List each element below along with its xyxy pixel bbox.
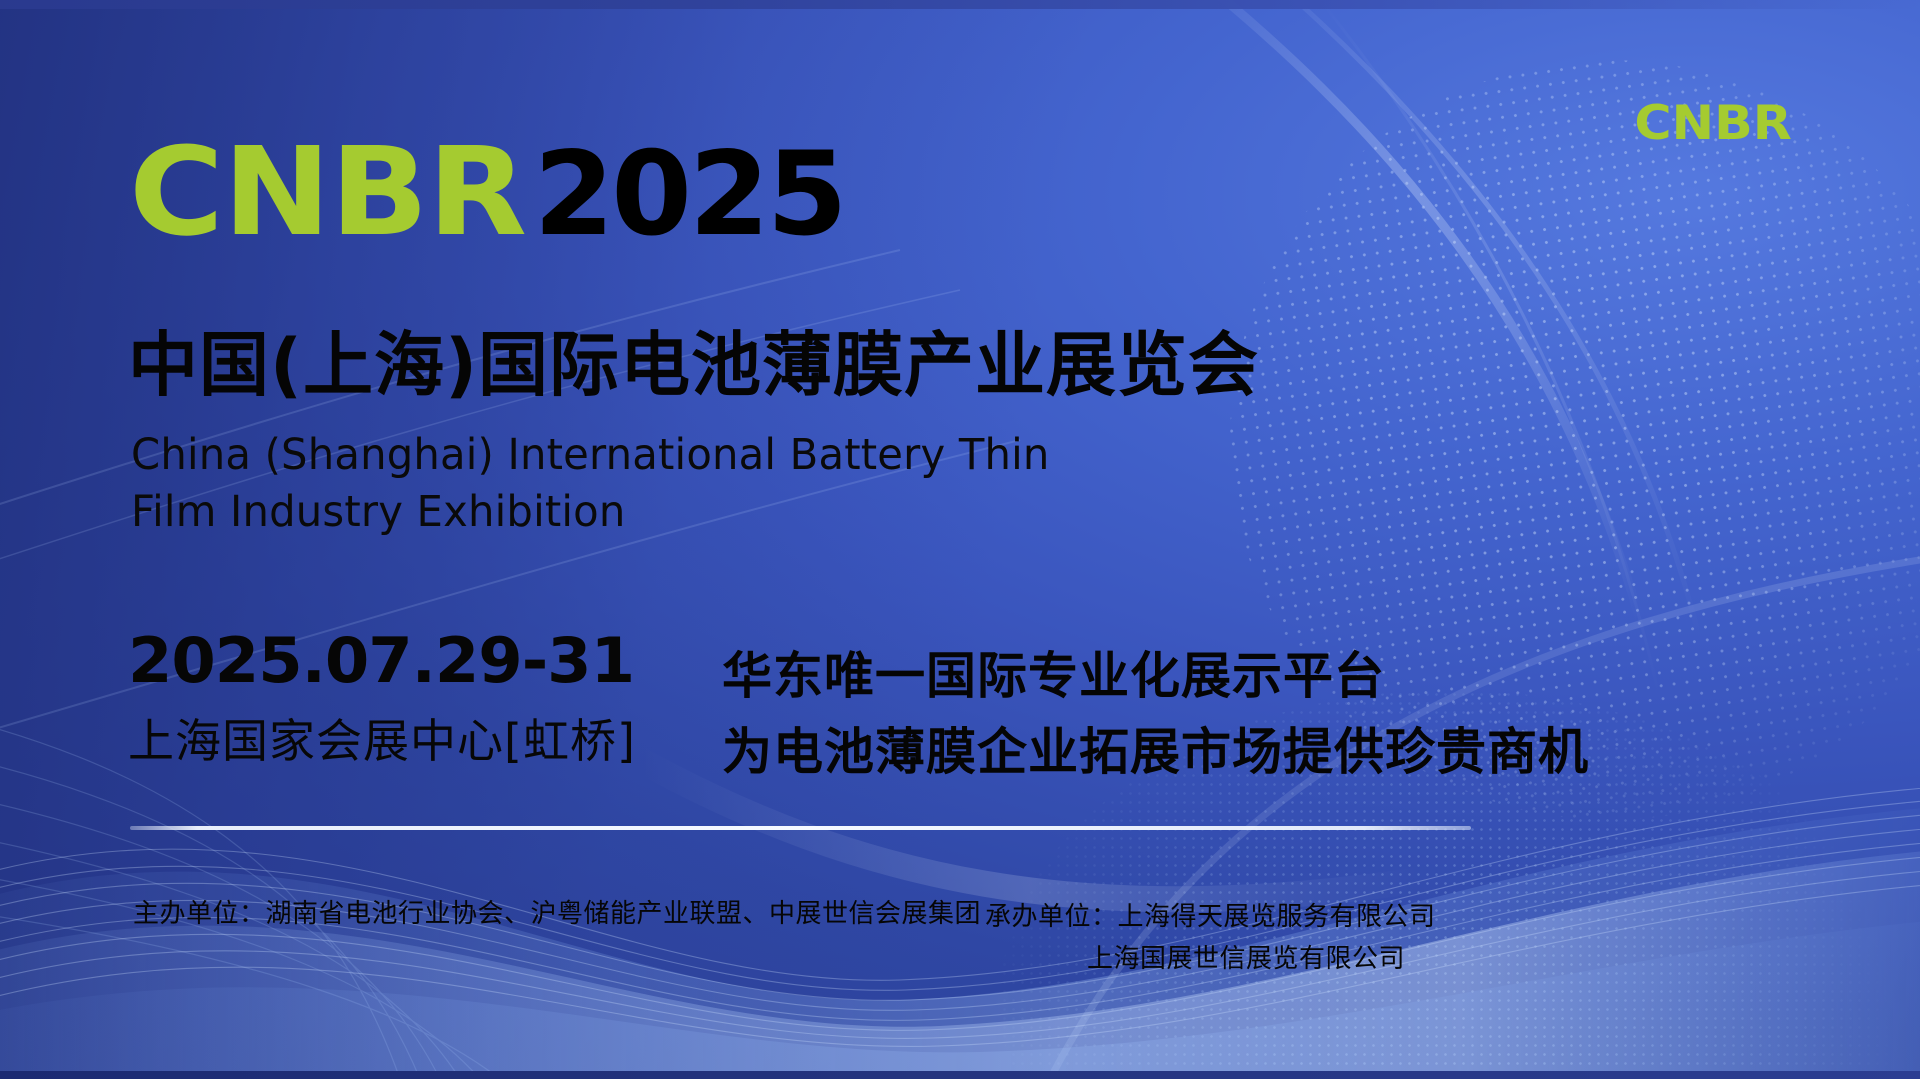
- tagline-line1: 华东唯一国际专业化展示平台: [722, 638, 1589, 714]
- coorganizer-line1: 承办单位：上海得天展览服务有限公司: [985, 896, 1405, 938]
- title-english: China (Shanghai) International Battery T…: [131, 427, 1231, 541]
- event-date-venue: 2025.07.29-31 上海国家会展中心[虹桥]: [128, 630, 636, 764]
- title-chinese: 中国(上海)国际电池薄膜产业展览会: [128, 330, 1259, 400]
- brand-lockup: CNBR 2025: [129, 131, 844, 253]
- organizer-text: 主办单位：湖南省电池行业协会、沪粤储能产业联盟、中展世信会展集团: [133, 896, 981, 934]
- footer-divider: [130, 826, 1471, 830]
- event-tagline: 华东唯一国际专业化展示平台 为电池薄膜企业拓展市场提供珍贵商机: [722, 638, 1589, 790]
- title-english-line1: China (Shanghai) International Battery T…: [131, 427, 1198, 484]
- event-venue: 上海国家会展中心[虹桥]: [128, 718, 636, 764]
- bottom-edge-band: [0, 1071, 1920, 1079]
- top-edge-band: [0, 0, 1920, 9]
- tagline-line2: 为电池薄膜企业拓展市场提供珍贵商机: [722, 714, 1589, 790]
- coorganizer-line2: 上海国展世信展览有限公司: [985, 938, 1405, 980]
- cnbr-wordmark: CNBR: [129, 131, 526, 253]
- event-year: 2025: [534, 137, 845, 253]
- title-english-line2: Film Industry Exhibition: [131, 484, 1198, 541]
- corner-cnbr-logo: CNBR: [1634, 96, 1792, 151]
- poster-canvas: CNBR 2025 CNBR 中国(上海)国际电池薄膜产业展览会 China (…: [0, 0, 1920, 1079]
- event-date: 2025.07.29-31: [128, 630, 651, 692]
- coorganizer-block: 承办单位：上海得天展览服务有限公司 上海国展世信展览有限公司: [985, 896, 1405, 980]
